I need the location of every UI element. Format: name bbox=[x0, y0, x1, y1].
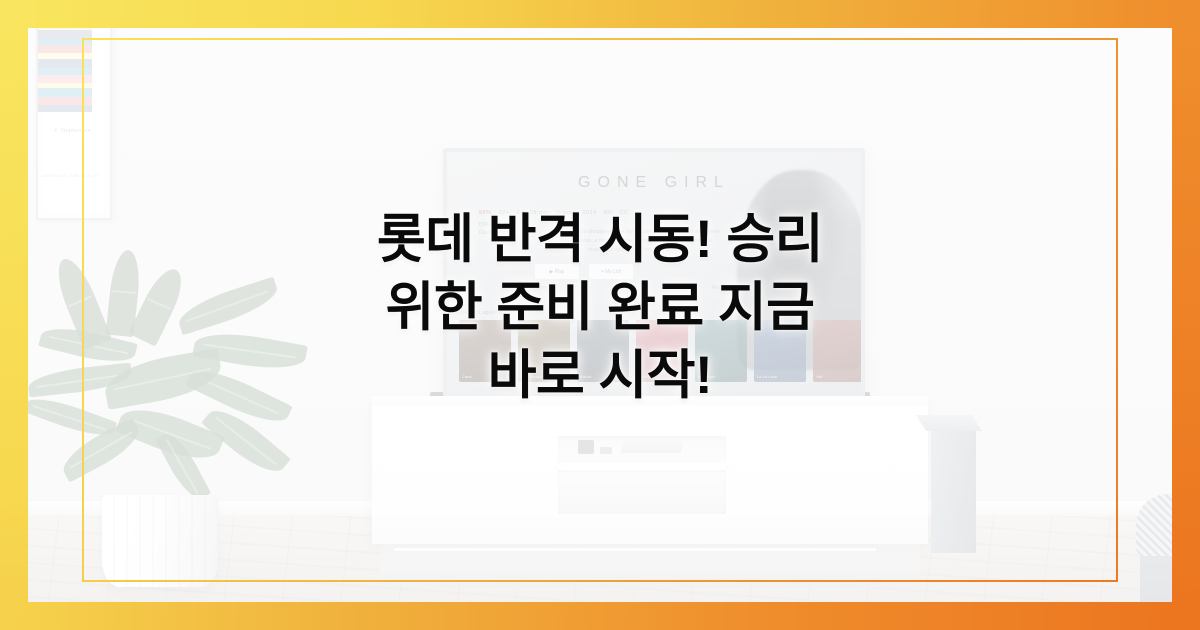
tv-synopsis: With his wife's disappearance having bec… bbox=[547, 228, 725, 255]
artwork-stripe-5 bbox=[38, 9, 92, 18]
tv-director-name: David Fincher bbox=[479, 229, 513, 237]
tv-poster[interactable]: DIOR bbox=[636, 320, 688, 382]
console-device bbox=[620, 440, 683, 453]
tv-poster[interactable]: The Martian bbox=[518, 320, 570, 382]
tv-year: 2014 bbox=[582, 210, 596, 216]
console-shelf-board bbox=[558, 463, 726, 470]
tv-poster-title: Moonlight bbox=[698, 374, 715, 379]
tv-row-label: Watch it again bbox=[461, 310, 496, 316]
tv-console bbox=[372, 396, 928, 544]
console-remote bbox=[578, 440, 594, 454]
tv-button-row: ▶ Play + My List bbox=[535, 264, 633, 279]
tv-poster-row: CarolThe MartianArrivalDIORMoonlightLa L… bbox=[459, 320, 861, 382]
artwork-stripe-14 bbox=[38, 75, 92, 83]
artwork-caption: ABSTRACT | LIMITED | 03 bbox=[42, 173, 99, 178]
artwork-stripe-16 bbox=[38, 88, 92, 97]
speaker-top bbox=[916, 415, 982, 431]
tv-badge-cc: CC bbox=[620, 210, 629, 216]
floor-speaker bbox=[931, 427, 976, 553]
artwork-stripe-13 bbox=[38, 68, 92, 75]
tv-poster-title: DIOR bbox=[639, 374, 649, 379]
console-open-shelf bbox=[558, 436, 726, 514]
console-top-surface bbox=[372, 396, 928, 405]
pot-ribs bbox=[102, 495, 218, 587]
tv-poster[interactable]: Moonlight bbox=[695, 320, 747, 382]
plant-leaf bbox=[174, 277, 282, 336]
thumbnail-canvas: J. Stephenson ABSTRACT | LIMITED | 03 bbox=[0, 0, 1200, 630]
potted-plant bbox=[18, 240, 318, 580]
tv-poster-title: Arrival bbox=[580, 374, 591, 379]
television: GONE GIRL 88% 17+ 2 hr 29 min Drama 2014… bbox=[443, 148, 865, 403]
tv-poster[interactable]: La La Land bbox=[754, 320, 806, 382]
tv-rating: 17+ bbox=[499, 210, 510, 216]
framed-artwork: J. Stephenson ABSTRACT | LIMITED | 03 bbox=[36, 0, 112, 220]
tv-poster[interactable]: Her bbox=[813, 320, 861, 382]
artwork-stripe-17 bbox=[38, 97, 92, 105]
artwork-stripe-10 bbox=[38, 45, 92, 53]
tv-mylist-button[interactable]: + My List bbox=[589, 264, 633, 279]
tv-genre: Drama bbox=[556, 210, 575, 216]
tv-badge-hd: HD bbox=[604, 210, 613, 216]
tv-movie-meta: 88% 17+ 2 hr 29 min Drama 2014 HD CC bbox=[479, 210, 629, 216]
tv-secondary-labels: Trailer More Info bbox=[533, 285, 733, 291]
artwork-stripe-8 bbox=[38, 30, 92, 39]
tv-poster[interactable]: Carol bbox=[459, 320, 511, 382]
plant-pot bbox=[102, 495, 218, 587]
tv-screen: GONE GIRL 88% 17+ 2 hr 29 min Drama 2014… bbox=[447, 152, 861, 399]
tv-poster-title: The Martian bbox=[521, 374, 542, 379]
tv-duration: 2 hr 29 min bbox=[516, 210, 549, 216]
tv-score: 88% bbox=[479, 210, 492, 216]
tv-moreinfo-label[interactable]: More Info bbox=[712, 285, 733, 291]
knit-pouf bbox=[1136, 494, 1200, 556]
tv-trailer-label[interactable]: Trailer bbox=[533, 285, 547, 291]
artwork-stripes bbox=[38, 0, 92, 122]
artwork-signature: J. Stephenson bbox=[54, 128, 91, 134]
background-photo: J. Stephenson ABSTRACT | LIMITED | 03 bbox=[0, 0, 1200, 630]
artwork-stripe-6 bbox=[38, 18, 92, 25]
tv-poster-title: La La Land bbox=[757, 374, 777, 379]
tv-director-label: DIRECTOR bbox=[479, 221, 513, 229]
tv-poster-title: Her bbox=[816, 374, 822, 379]
console-highlight-line bbox=[394, 548, 876, 551]
artwork-stripe-18 bbox=[38, 105, 92, 112]
tv-movie-title: GONE GIRL bbox=[447, 174, 861, 192]
artwork-stripe-12 bbox=[38, 59, 92, 68]
tv-director-block: DIRECTOR David Fincher bbox=[479, 221, 513, 238]
tv-poster[interactable]: Arrival bbox=[577, 320, 629, 382]
tv-play-button[interactable]: ▶ Play bbox=[535, 264, 579, 279]
tv-poster-title: Carol bbox=[462, 374, 472, 379]
console-remote-secondary bbox=[600, 447, 612, 454]
